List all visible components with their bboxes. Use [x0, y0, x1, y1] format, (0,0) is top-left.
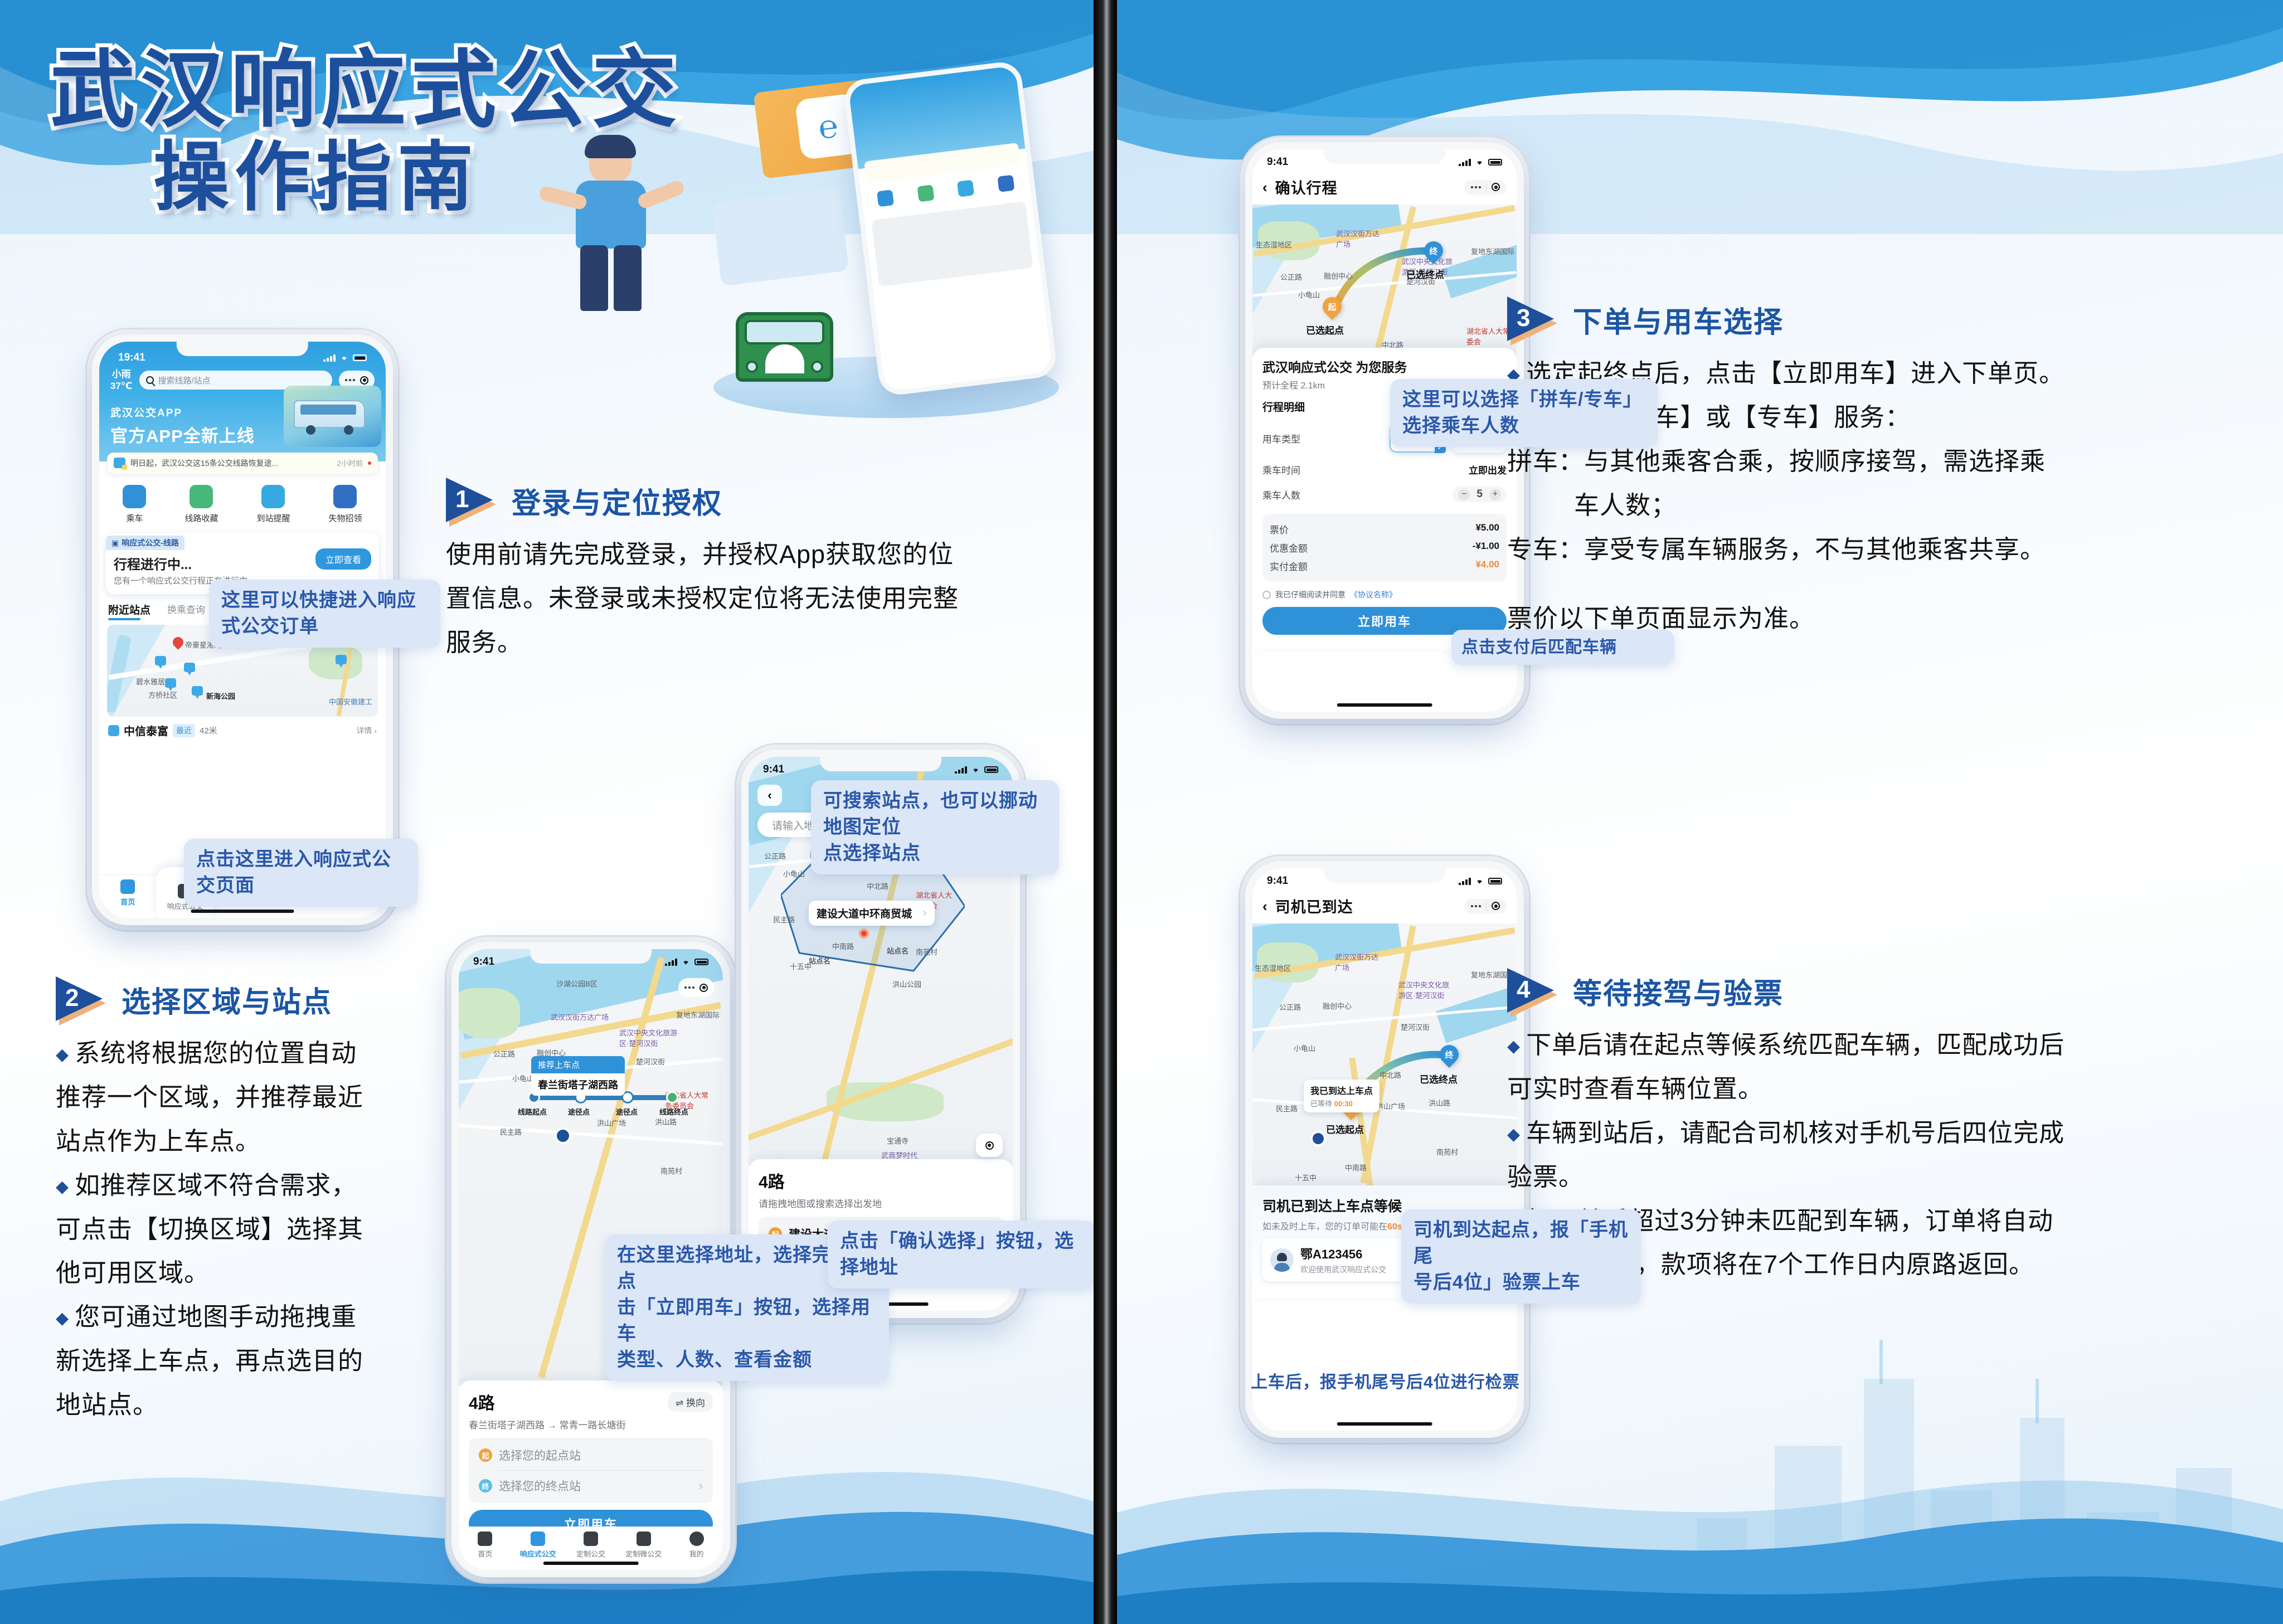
bus-illustration	[284, 386, 381, 447]
map-label: 洪山广场	[1376, 1101, 1405, 1111]
left-panel: 武汉响应式公交 操作指南	[0, 0, 1094, 1624]
map-label: 中北路	[867, 881, 888, 891]
status-icons	[323, 354, 367, 362]
more-icon[interactable]	[1471, 186, 1481, 188]
status-time: 9:41	[473, 956, 494, 968]
home-indicator	[1337, 1422, 1432, 1426]
callout-choose-service: 这里可以选择「拼车/专车」 选择乘车人数	[1390, 379, 1658, 447]
detail-row-time[interactable]: 乘车时间 立即出发	[1262, 458, 1507, 482]
phone-driver-screen: 9:41 ‹ 司机已到达	[1245, 861, 1524, 1438]
map-label: 生态湿地区	[1256, 239, 1292, 250]
quick-label: 失物招领	[328, 512, 362, 524]
panel-divider	[1094, 0, 1117, 1624]
origin-row[interactable]: 起 选择您的起点站	[477, 1440, 705, 1470]
phone-notch	[1324, 149, 1445, 164]
avatar	[1270, 1248, 1294, 1272]
fare-value: -¥1.00	[1473, 541, 1499, 555]
nav-label: 响应式公交	[513, 1548, 563, 1559]
step-spacer	[1507, 573, 2243, 595]
callout-verify-boarding: 司机到达起点，报「手机尾 号后4位」验票上车	[1401, 1209, 1641, 1304]
wifi-icon	[971, 766, 980, 773]
step-title: 下单与用车选择	[1573, 299, 1784, 341]
tip-title: 我已到达上车点	[1310, 1083, 1373, 1097]
home-hero-header: 19:41 小雨 37℃	[99, 342, 386, 461]
map-label: 洪山广场	[597, 1117, 626, 1128]
battery-icon	[984, 766, 998, 773]
route-node-end	[666, 1091, 678, 1103]
status-time: 19:41	[118, 352, 145, 364]
step-line: 使用前请先完成登录，并授权App获取您的位	[446, 534, 1037, 575]
driver-welcome: 欢迎使用武汉响应式公交	[1300, 1264, 1386, 1275]
callout-enter-page: 点击这里进入响应式公交页面	[184, 839, 418, 907]
step-number: 4	[1517, 976, 1530, 1004]
step-line: 置信息。未登录或未授权定位将无法使用完整	[446, 578, 1037, 619]
bus-stop-icon	[108, 725, 119, 736]
status-icons	[665, 959, 708, 966]
step-title: 登录与定位授权	[512, 480, 722, 522]
origin-dest-box: 起 选择您的起点站 终 选择您的终点站 ›	[469, 1438, 713, 1503]
nav-item-home[interactable]: 首页	[101, 879, 156, 907]
map-label: 公正路	[493, 1048, 515, 1059]
map-label: 民主路	[1276, 1103, 1298, 1114]
locate-icon[interactable]	[360, 376, 368, 385]
confirm-map[interactable]: 生态湿地区 武汉汉街万达广场 公正路 融创中心 小龟山 楚河汉街 武汉中央文化旅…	[1252, 205, 1517, 358]
route-polyline	[531, 1095, 671, 1100]
nav-item-micro-bus[interactable]: 定制微公交	[619, 1531, 669, 1559]
map-label: 中南路	[832, 941, 854, 951]
map-label: 十五中	[1295, 1172, 1317, 1183]
phone-notch	[530, 949, 652, 964]
recommended-pickup-tip: 推荐上车点 春兰街塔子湖西路	[531, 1056, 625, 1096]
step-line: 验票。	[1507, 1157, 2243, 1198]
nav-label: 首页	[460, 1548, 510, 1559]
locate-icon[interactable]	[700, 984, 708, 992]
step-line: 如推荐区域不符合需求，	[56, 1165, 424, 1206]
fare-value: ¥5.00	[1475, 522, 1499, 536]
dest-badge: 终	[479, 1479, 492, 1492]
agreement-row[interactable]: 我已仔细阅读并同意 《协议名称》	[1262, 589, 1507, 600]
map-label: 武汉汉街万达广场	[1335, 951, 1381, 973]
step-line: 您可通过地图手动拖拽重	[56, 1297, 424, 1338]
step-line: 新选择上车点，再点选目的	[56, 1341, 424, 1382]
pick-hint: 请拖拽地图或搜索选择出发地	[759, 1196, 1003, 1210]
more-icon[interactable]	[345, 379, 355, 381]
plus-icon[interactable]: +	[1489, 489, 1501, 500]
tab-nearby-stops[interactable]: 附近站点	[108, 602, 150, 620]
user-location-dot	[1310, 1131, 1326, 1146]
map-label: 复地东湖国际	[676, 1009, 720, 1020]
wifi-icon	[681, 959, 691, 965]
nav-item-profile[interactable]: 我的	[672, 1531, 722, 1559]
map-label: 方桥社区	[148, 689, 177, 700]
quick-item-arrival[interactable]: 到站提醒	[256, 485, 290, 524]
stop-distance: 42米	[200, 725, 217, 736]
map-label: 武汉中央文化旅游区·楚河汉街	[1398, 979, 1450, 1000]
confirm-header: ‹ 确认行程	[1252, 171, 1517, 205]
step-line: 系统将根据您的位置自动	[56, 1033, 424, 1074]
map-label: 武汉中央文化旅游区·楚河汉街	[619, 1027, 681, 1048]
user-location-dot	[555, 1127, 571, 1144]
poster-root: 武汉响应式公交 操作指南	[0, 0, 2283, 1624]
row-label: 乘车时间	[1262, 463, 1300, 476]
back-button[interactable]: ‹	[1262, 899, 1267, 913]
home-indicator	[1337, 703, 1432, 707]
map-label: 中北路	[1379, 1069, 1401, 1080]
step-2: 2 选择区域与站点 系统将根据您的位置自动 推荐一个区域，并推荐最近 站点作为上…	[56, 975, 424, 1429]
signal-icon	[955, 766, 967, 774]
map-label: 武汉汉街万达广场	[1336, 228, 1381, 249]
status-time: 9:41	[763, 764, 784, 776]
map-stop-icon	[336, 655, 347, 664]
unread-dot	[368, 461, 371, 465]
title-line-1: 武汉响应式公交	[50, 47, 682, 134]
megaphone-icon	[114, 458, 125, 468]
map-label: 公正路	[1279, 1001, 1301, 1012]
quick-label: 到站提醒	[256, 512, 290, 524]
service-title: 武汉响应式公交 为您服务	[1262, 357, 1507, 376]
agreement-checkbox[interactable]	[1262, 591, 1271, 599]
battery-icon	[353, 354, 367, 361]
step-line: 拼车：与其他乘客合乘，按顺序接驾，需选择乘	[1507, 441, 2243, 482]
map-label: 中南路	[1345, 1162, 1367, 1173]
status-icons	[1459, 878, 1502, 885]
map-label: 融创中心	[1323, 1000, 1352, 1011]
hero-speech-card	[712, 188, 849, 286]
detail-row-passengers: 乘车人数 − 5 +	[1262, 482, 1507, 507]
page-title: 确认行程	[1275, 176, 1338, 198]
poster-title: 武汉响应式公交 操作指南	[50, 47, 682, 221]
nearest-stop-row[interactable]: 中信泰富 最近 42米 详情 ›	[99, 717, 386, 738]
map-stop-icon	[192, 686, 203, 696]
weather-desc: 小雨	[110, 368, 133, 380]
map-label: 十五中	[790, 961, 812, 971]
map-label: 洪山公园	[892, 979, 921, 989]
map-label: 碧水雅居	[136, 676, 165, 687]
tab-transfer-query[interactable]: 换乘查询	[167, 602, 205, 620]
callout-pay-match: 点击支付后匹配车辆	[1451, 630, 1674, 665]
swap-direction-button[interactable]: ⇌ 换向	[668, 1392, 713, 1412]
map-label: 南苑村	[916, 946, 938, 957]
passenger-count: 5	[1476, 488, 1483, 500]
chevron-right-icon: ›	[699, 1479, 703, 1493]
step-line: 地站点。	[56, 1385, 424, 1426]
origin-label: 已选起点	[1326, 1122, 1364, 1136]
step-number: 2	[65, 984, 79, 1012]
passenger-stepper[interactable]: − 5 +	[1453, 487, 1507, 502]
driver-map[interactable]: 生态湿地区 武汉汉街万达广场 公正路 融创中心 小龟山 楚河汉街 武汉中央文化旅…	[1252, 923, 1517, 1185]
dest-row[interactable]: 终 选择您的终点站 ›	[477, 1471, 705, 1501]
map-label: 洪山路	[655, 1116, 677, 1127]
battery-icon	[694, 959, 708, 965]
map-label: 站点名	[887, 945, 909, 956]
map-label: 南苑村	[1436, 1146, 1458, 1157]
map-label: 南苑村	[660, 1165, 682, 1176]
step-3: 3 下单与用车选择 选定起终点后，点击【立即用车】进入下单页。 可选择【拼车】或…	[1507, 295, 2243, 643]
step-1: 1 登录与定位授权 使用前请先完成登录，并授权App获取您的位 置信息。未登录或…	[446, 476, 1037, 667]
quick-item-favorites[interactable]: 线路收藏	[184, 485, 218, 524]
dest-placeholder: 选择您的终点站	[499, 1477, 581, 1494]
nav-label: 定制微公交	[619, 1548, 669, 1559]
step-line: 下单后请在起点等候系统匹配车辆，匹配成功后	[1507, 1025, 2243, 1066]
search-icon	[146, 376, 154, 384]
route-direction: 春兰街塔子湖西路 → 常青一路长塘街	[469, 1417, 713, 1431]
weather-widget: 小雨 37℃	[110, 368, 133, 392]
map-center-pin	[859, 928, 869, 939]
map-label: 站点名	[809, 955, 830, 966]
target-icon[interactable]	[1492, 183, 1500, 191]
map-label: 小龟山	[1294, 1043, 1315, 1053]
header-actions[interactable]	[1464, 899, 1507, 913]
map-label: 洪山路	[1429, 1097, 1450, 1108]
nav-item-responsive-bus[interactable]: 响应式公交	[513, 1531, 563, 1559]
map-label: 民主路	[500, 1126, 522, 1137]
agreement-text: 我已仔细阅读并同意	[1275, 589, 1345, 600]
page-title: 司机已到达	[1275, 895, 1353, 917]
callout-confirm-select: 点击「确认选择」按钮，选择地址	[828, 1221, 1094, 1288]
map-actions[interactable]	[678, 978, 714, 997]
dest-label: 已选终点	[1406, 267, 1444, 281]
nearest-badge: 最近	[173, 724, 195, 737]
fare-breakdown: 票价 ¥5.00 优惠金额 -¥1.00 实付金额 ¥4.00	[1262, 514, 1507, 581]
map-label: 小龟山	[783, 868, 805, 879]
step-body: 使用前请先完成登录，并授权App获取您的位 置信息。未登录或未授权定位将无法使用…	[446, 534, 1037, 663]
nav-label: 首页	[101, 896, 156, 907]
nav-label: 定制公交	[566, 1548, 616, 1559]
map-label: 融创中心	[1324, 270, 1353, 281]
row-label: 用车类型	[1262, 431, 1300, 445]
phone-notch	[177, 342, 308, 356]
step-line: 车辆到站后，请配合司机核对手机号后四位完成	[1507, 1113, 2243, 1154]
cancel-timer: 60s	[1387, 1222, 1402, 1232]
view-trip-button[interactable]: 立即查看	[315, 548, 371, 570]
map-label: 生态湿地区	[1255, 962, 1291, 973]
fare-row-price: 票价 ¥5.00	[1270, 520, 1499, 538]
step-line: 车人数；	[1507, 485, 2243, 526]
weather-temp: 37℃	[110, 380, 133, 392]
battery-icon	[1488, 878, 1502, 884]
step-badge-3: 3	[1507, 295, 1561, 343]
step-line: 可实时查看车辆位置。	[1507, 1069, 2243, 1110]
phone-notch	[1324, 868, 1445, 883]
right-panel: 3 下单与用车选择 选定起终点后，点击【立即用车】进入下单页。 可选择【拼车】或…	[1117, 0, 2283, 1624]
agreement-link[interactable]: 《协议名称》	[1350, 589, 1397, 600]
fare-label: 优惠金额	[1270, 541, 1308, 555]
step-number: 1	[455, 485, 469, 513]
step-title: 等待接驾与验票	[1573, 970, 1784, 1012]
trip-tag-label: 响应式公交-线路	[122, 537, 179, 548]
step-line: 服务。	[446, 623, 1037, 663]
quick-label: 线路收藏	[184, 512, 218, 524]
wifi-icon	[1475, 878, 1484, 884]
fare-label: 票价	[1270, 522, 1289, 536]
stop-name: 中信泰富	[124, 722, 168, 738]
battery-icon	[1488, 159, 1502, 166]
route-node-label: 线路终点	[659, 1106, 688, 1117]
minus-icon[interactable]: −	[1458, 489, 1470, 500]
more-icon[interactable]	[1471, 905, 1481, 907]
quick-item-ride[interactable]: 乘车	[123, 485, 146, 524]
step-badge-2: 2	[56, 975, 109, 1023]
origin-badge: 起	[479, 1448, 492, 1462]
nav-item-home[interactable]: 首页	[460, 1531, 510, 1559]
recenter-button[interactable]	[976, 1134, 1003, 1157]
map-label: 公正路	[1280, 271, 1302, 282]
nav-label: 我的	[672, 1548, 722, 1559]
signal-icon	[665, 959, 677, 966]
trip-tag: ▣ 响应式公交-线路	[106, 536, 184, 550]
wifi-icon	[339, 354, 349, 361]
map-label: 沙湖公园B区	[556, 978, 598, 989]
map-stop-icon	[165, 678, 176, 688]
status-time: 9:41	[1267, 156, 1288, 168]
map-label: 湖北省人大常委会	[1466, 325, 1512, 347]
callout-check-ticket: 上车后，报手机尾号后4位进行检票	[1251, 1371, 1541, 1394]
tip-body: 春兰街塔子湖西路	[531, 1073, 625, 1096]
search-placeholder: 搜索线路/站点	[158, 375, 211, 386]
trip-route-line	[1252, 923, 1517, 1185]
route-node-label: 线路起点	[518, 1106, 547, 1117]
step-line: 站点作为上车点。	[56, 1121, 424, 1162]
signal-icon	[1459, 159, 1471, 166]
map-label: 宝通寺	[887, 1135, 909, 1146]
map-label: 复地东湖国际	[1471, 246, 1514, 256]
news-text: 明日起，武汉公交这15条公交线路恢复途...	[130, 458, 332, 469]
origin-label: 已选起点	[1306, 323, 1344, 337]
step-line: 专车：享受专属车辆服务，不与其他乘客共享。	[1507, 529, 2243, 570]
map-label: 楚河汉街	[1401, 1022, 1430, 1032]
more-icon[interactable]	[684, 986, 694, 989]
callout-quick-order: 这里可以快捷进入响应式公交订单	[209, 580, 440, 648]
step-line: 他可用区域。	[56, 1253, 424, 1294]
dest-label: 已选终点	[1420, 1072, 1458, 1086]
stop-detail-link[interactable]: 详情 ›	[356, 725, 377, 736]
target-icon[interactable]	[1492, 902, 1500, 910]
fare-row-discount: 优惠金额 -¥1.00	[1270, 538, 1499, 557]
fare-label: 实付金额	[1270, 559, 1308, 573]
origin-placeholder: 选择您的起点站	[499, 1447, 581, 1463]
route-node-label: 途径点	[568, 1106, 590, 1117]
map-label: 武汉汉街万达广场	[551, 1012, 609, 1022]
home-indicator	[543, 1562, 639, 1565]
news-banner[interactable]: 明日起，武汉公交这15条公交线路恢复途... 2小时前	[107, 453, 378, 474]
signal-icon	[323, 354, 336, 362]
route-name: 4路	[759, 1168, 1003, 1193]
status-icons	[1459, 159, 1502, 166]
news-time: 2小时前	[337, 458, 363, 468]
step-badge-4: 4	[1507, 967, 1561, 1015]
back-button[interactable]: ‹	[1262, 180, 1267, 195]
header-actions[interactable]	[1464, 180, 1507, 195]
hero-bus-illustration	[736, 312, 833, 382]
signal-icon	[1459, 878, 1471, 885]
map-label: 新海公园	[206, 691, 235, 701]
quick-label: 乘车	[123, 512, 146, 524]
map-stop-icon	[184, 663, 195, 672]
row-value: 立即出发	[1469, 463, 1507, 476]
map-label: 中国安徽建工	[329, 696, 372, 707]
callout-search-stop: 可搜索站点，也可以挪动地图定位 点选择站点	[811, 780, 1059, 874]
wifi-icon	[1475, 159, 1484, 166]
map-stop-icon	[155, 656, 166, 665]
map-label: 公正路	[764, 850, 786, 861]
phone-notch	[820, 757, 941, 771]
step-badge-1: 1	[446, 476, 499, 524]
chevron-right-icon: ›	[923, 907, 927, 920]
fare-row-total: 实付金额 ¥4.00	[1270, 557, 1499, 575]
map-label: 小龟山	[1298, 289, 1320, 300]
route-name: 4路	[469, 1389, 495, 1414]
quick-item-lost[interactable]: 失物招领	[328, 485, 362, 524]
back-button[interactable]: ‹	[757, 785, 782, 806]
status-icons	[955, 766, 998, 774]
fare-value: ¥4.00	[1475, 559, 1499, 573]
nav-item-custom-bus[interactable]: 定制公交	[566, 1531, 616, 1559]
step-line: 可点击【切换区域】选择其	[56, 1209, 424, 1250]
row-label: 乘车人数	[1262, 488, 1300, 502]
driver-arrival-tip: 我已到达上车点 已等待 00:30	[1304, 1080, 1379, 1112]
waited-time: 00:30	[1334, 1100, 1353, 1108]
step-body: 系统将根据您的位置自动 推荐一个区域，并推荐最近 站点作为上车点。 如推荐区域不…	[56, 1033, 424, 1426]
tip-sub: 已等待 00:30	[1310, 1098, 1373, 1108]
selected-address-marker[interactable]: 建设大道中环商贸城 ›	[809, 901, 935, 926]
route-icon: ▣	[111, 538, 119, 548]
status-time: 9:41	[1267, 875, 1288, 887]
route-node-label: 途径点	[616, 1106, 638, 1117]
map-label: 民主路	[773, 914, 795, 925]
plate-number: 鄂A123456	[1300, 1244, 1386, 1262]
marker-label: 建设大道中环商贸城	[817, 906, 912, 921]
driver-header: ‹ 司机已到达	[1252, 889, 1517, 923]
quick-actions: 乘车 线路收藏 到站提醒 失物招领	[99, 474, 386, 531]
step-title: 选择区域与站点	[122, 979, 332, 1020]
step-line: 推荐一个区域，并推荐最近	[56, 1077, 424, 1118]
tip-head: 推荐上车点	[531, 1056, 625, 1073]
title-line-2: 操作指南	[153, 134, 682, 221]
hero-phone-mock	[842, 60, 1058, 397]
map-label: 楚河汉街	[636, 1056, 665, 1067]
step-number: 3	[1517, 304, 1530, 332]
